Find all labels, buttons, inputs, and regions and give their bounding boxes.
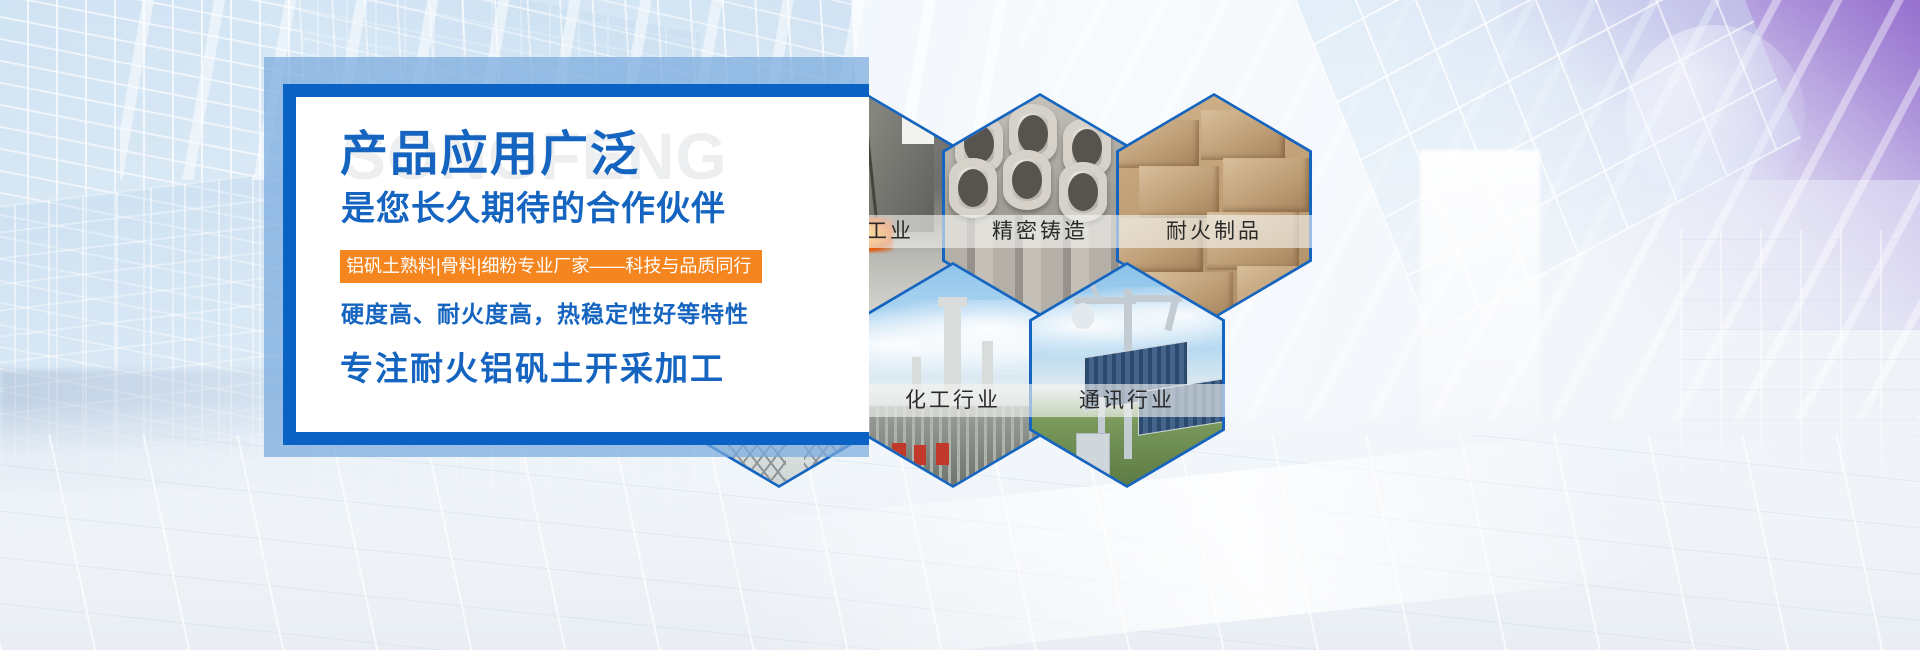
ribbon-banner: 铝矾土熟料|骨料|细粉专业厂家——科技与品质同行	[340, 250, 762, 283]
hex-telecom-industry[interactable]: 通讯行业	[1029, 262, 1225, 488]
tagline: 专注耐火铝矾土开采加工	[340, 352, 725, 385]
headline: 产品应用广泛	[340, 131, 640, 179]
subheadline: 是您长久期待的合作伙伴	[341, 192, 726, 226]
hex-chemical-industry[interactable]: 化工行业	[855, 262, 1051, 488]
feature-line: 硬度高、耐火度高，热稳定性好等特性	[341, 303, 749, 326]
chemical-plant-photo	[858, 265, 1048, 485]
telecom-solar-tower-photo	[1032, 265, 1222, 485]
promo-banner: 炼铝工业 精密铸造	[0, 0, 1920, 650]
hex-label: 耐火制品	[1116, 215, 1312, 248]
hex-label: 通讯行业	[1029, 384, 1225, 417]
hex-label: 精密铸造	[942, 215, 1138, 248]
hex-label: 化工行业	[855, 384, 1051, 417]
